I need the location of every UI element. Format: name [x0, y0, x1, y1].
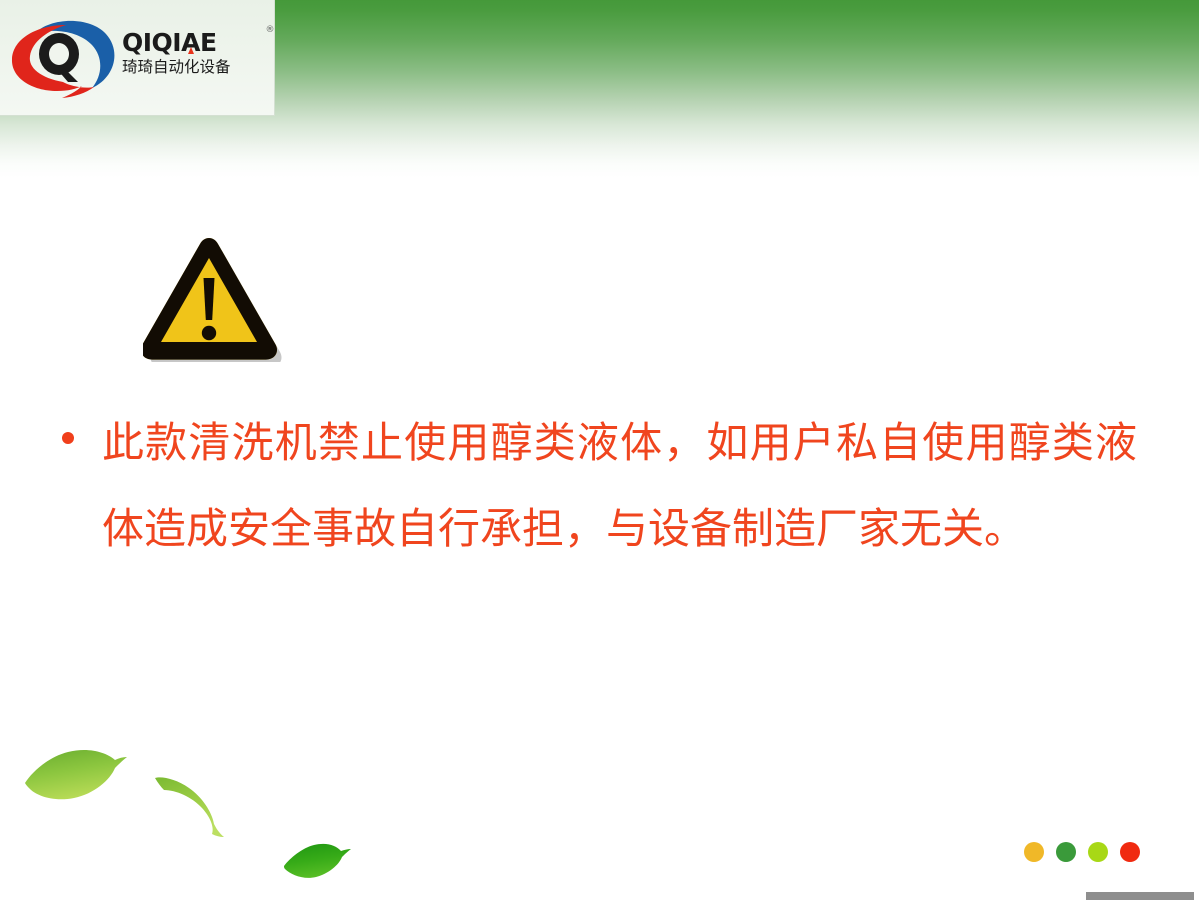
bullet-point-marker: [62, 432, 74, 444]
qiqi-q-swoosh-logo-icon: [4, 12, 120, 104]
logo-wordmark-e: E: [200, 28, 217, 57]
dot-red-icon: [1120, 842, 1140, 862]
leaf-large-icon: [22, 738, 130, 810]
logo-text-block: QIQIAE® 琦琦自动化设备: [122, 30, 272, 92]
logo-wordmark: QIQIAE®: [122, 30, 272, 55]
bullet-list-item: 此款清洗机禁止使用醇类液体，如用户私自使用醇类液体造成安全事故自行承担，与设备制…: [62, 400, 1137, 572]
dot-green-icon: [1056, 842, 1076, 862]
presentation-slide: QIQIAE® 琦琦自动化设备 此款清洗机禁止使用醇类液体，如用户私自使用醇类液…: [0, 0, 1199, 904]
dot-lime-icon: [1088, 842, 1108, 862]
logo-wordmark-qiqi: QIQI: [122, 28, 181, 57]
warning-triangle-icon: [143, 234, 283, 362]
bottom-accent-bar: [1086, 892, 1194, 900]
decorative-dots-row: [1024, 842, 1140, 862]
body-text-block: 此款清洗机禁止使用醇类液体，如用户私自使用醇类液体造成安全事故自行承担，与设备制…: [62, 400, 1137, 572]
company-logo-plate: QIQIAE® 琦琦自动化设备: [0, 0, 275, 116]
leaf-medium-icon: [150, 775, 228, 837]
dot-amber-icon: [1024, 842, 1044, 862]
logo-wordmark-a: A: [181, 30, 200, 55]
registered-trademark-symbol: ®: [266, 26, 275, 35]
warning-paragraph-text: 此款清洗机禁止使用醇类液体，如用户私自使用醇类液体造成安全事故自行承担，与设备制…: [102, 400, 1137, 572]
logo-subtitle: 琦琦自动化设备: [122, 59, 272, 76]
leaf-small-icon: [282, 840, 352, 880]
